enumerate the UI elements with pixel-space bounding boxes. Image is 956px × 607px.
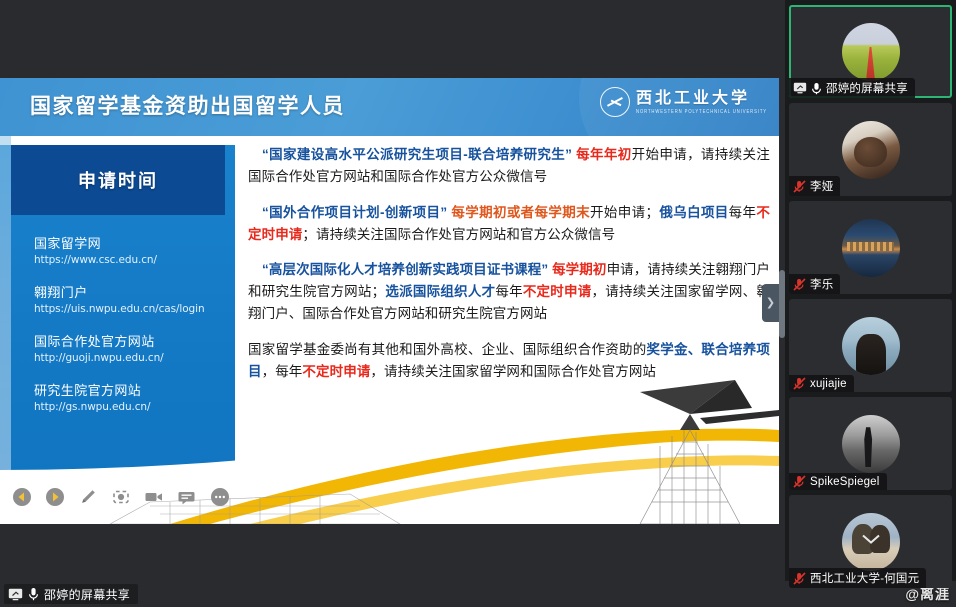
avatar — [842, 317, 900, 375]
slide-paragraph: “高层次国际化人才培养创新实践项目证书课程” 每学期初申请，请持续关注翱翔门户和… — [248, 259, 770, 325]
text-run: 开始申请； — [590, 205, 659, 220]
text-run: 不定时申请 — [302, 364, 370, 379]
list-item: 国际合作处官方网站 http://guoji.nwpu.edu.cn/ — [34, 334, 234, 366]
link-name: 国际合作处官方网站 — [34, 334, 234, 350]
microphone-muted-icon[interactable] — [793, 180, 806, 193]
text-run: 每年 — [729, 205, 757, 220]
link-url[interactable]: https://uis.nwpu.edu.cn/cas/login — [34, 303, 234, 317]
university-name-en: NORTHWESTERN POLYTECHNICAL UNIVERSITY — [636, 109, 767, 114]
chevron-down-icon — [858, 531, 884, 552]
participant-name-bar: SpikeSpiegel — [789, 473, 887, 490]
text-run: ” — [565, 147, 572, 162]
text-run: 不定时申请 — [523, 284, 592, 299]
list-item: 研究生院官方网站 http://gs.nwpu.edu.cn/ — [34, 383, 234, 415]
text-run: 国家留学基金委尚有其他和国外高校、企业、国际组织合作资助的 — [248, 342, 646, 357]
text-run: 俄乌白项目 — [659, 205, 729, 220]
presentation-slide: 国家留学基金资助出国留学人员 西北工业大学 NORTHWESTERN POLYT… — [0, 78, 779, 524]
chevron-right-icon: ❯ — [766, 298, 775, 309]
screen-share-icon — [8, 588, 23, 601]
screen-share-status: 邵婷的屏幕共享 — [4, 584, 138, 604]
text-run: 选派国际组织人才 — [385, 284, 495, 299]
list-item: 国家留学网 https://www.csc.edu.cn/ — [34, 236, 234, 268]
text-run: 每年 — [495, 284, 522, 299]
slide-body-text: “国家建设高水平公派研究生项目-联合培养研究生” 每年年初开始申请，请持续关注国… — [248, 144, 770, 397]
link-name: 国家留学网 — [34, 236, 234, 252]
participant-name: 邵婷的屏幕共享 — [826, 80, 908, 96]
university-seal-icon — [600, 87, 630, 117]
microphone-muted-icon[interactable] — [793, 572, 806, 585]
text-run: 每学期初或者每学期末 — [451, 205, 590, 220]
microphone-muted-icon[interactable] — [793, 475, 806, 488]
rail-white-gap — [0, 136, 235, 145]
participant-name: 李娅 — [810, 178, 833, 194]
next-slide-button[interactable] — [45, 487, 64, 506]
annotate-pen-button[interactable] — [78, 487, 97, 506]
participant-name: SpikeSpiegel — [810, 476, 880, 488]
link-name: 研究生院官方网站 — [34, 383, 234, 399]
participant-tile[interactable]: SpikeSpiegel — [789, 397, 952, 490]
avatar — [842, 219, 900, 277]
participant-name-bar: 西北工业大学-何国元 — [789, 568, 926, 588]
text-run: 高层次国际化人才培养创新实践项目证书课程 — [269, 262, 541, 277]
link-url[interactable]: http://guoji.nwpu.edu.cn/ — [34, 352, 234, 366]
slide-left-panel: 申请时间 国家留学网 https://www.csc.edu.cn/ 翱翔门户 … — [0, 136, 235, 524]
text-run: 国外合作项目计划-创新项目 — [269, 205, 441, 220]
text-run: “ — [262, 262, 269, 277]
record-video-button[interactable] — [144, 487, 163, 506]
university-logo: 西北工业大学 NORTHWESTERN POLYTECHNICAL UNIVER… — [600, 87, 767, 117]
list-item: 翱翔门户 https://uis.nwpu.edu.cn/cas/login — [34, 285, 234, 317]
university-name-cn: 西北工业大学 — [636, 90, 767, 106]
reference-link-list: 国家留学网 https://www.csc.edu.cn/ 翱翔门户 https… — [34, 236, 234, 432]
collapse-panel-button[interactable]: ❯ — [762, 284, 779, 322]
participant-name: 西北工业大学-何国元 — [810, 570, 919, 586]
text-run: “ — [262, 205, 269, 220]
more-options-button[interactable] — [210, 487, 229, 506]
slide-paragraph: “国家建设高水平公派研究生项目-联合培养研究生” 每年年初开始申请，请持续关注国… — [248, 144, 770, 188]
participant-tile[interactable]: 邵婷的屏幕共享 — [789, 5, 952, 98]
participant-tile[interactable]: 西北工业大学-何国元 — [789, 495, 952, 588]
slide-toolbar[interactable] — [12, 487, 229, 506]
page-title: 国家留学基金资助出国留学人员 — [30, 90, 345, 120]
microphone-muted-icon[interactable] — [793, 377, 806, 390]
spotlight-button[interactable] — [111, 487, 130, 506]
previous-slide-button[interactable] — [12, 487, 31, 506]
microphone-muted-icon[interactable] — [793, 278, 806, 291]
text-run: 国家建设高水平公派研究生项目-联合培养研究生 — [269, 147, 565, 162]
slide-header: 国家留学基金资助出国留学人员 西北工业大学 NORTHWESTERN POLYT… — [0, 78, 779, 136]
text-run: “ — [262, 147, 269, 162]
slide-paragraph: 国家留学基金委尚有其他和国外高校、企业、国际组织合作资助的奖学金、联合培养项目，… — [248, 339, 770, 383]
text-run: 每学期初 — [552, 262, 607, 277]
text-run: ，请持续关注国家留学网和国际合作处官方网站 — [370, 364, 656, 379]
link-url[interactable]: http://gs.nwpu.edu.cn/ — [34, 401, 234, 415]
link-url[interactable]: https://www.csc.edu.cn/ — [34, 254, 234, 268]
text-run: ；请持续关注国际合作处官方网站和官方公众微信号 — [302, 227, 615, 242]
text-run: 每年年初 — [576, 147, 631, 162]
section-heading-label: 申请时间 — [78, 167, 158, 193]
participant-tile[interactable]: xujiajie — [789, 299, 952, 392]
participant-name-bar: xujiajie — [789, 375, 854, 392]
section-heading-box: 申请时间 — [11, 145, 225, 215]
zoom-meeting-window: 国家留学基金资助出国留学人员 西北工业大学 NORTHWESTERN POLYT… — [0, 0, 956, 607]
participant-name-bar: 李乐 — [789, 274, 840, 294]
microphone-icon[interactable] — [811, 82, 822, 95]
comment-button[interactable] — [177, 487, 196, 506]
avatar — [842, 415, 900, 473]
participant-tile[interactable]: 李乐 — [789, 201, 952, 294]
microphone-icon — [28, 587, 39, 601]
shared-screen-stage[interactable]: 国家留学基金资助出国留学人员 西北工业大学 NORTHWESTERN POLYT… — [0, 0, 785, 581]
slide-paragraph: “国外合作项目计划-创新项目” 每学期初或者每学期末开始申请；俄乌白项目每年不定… — [248, 202, 770, 246]
stage-scrollbar[interactable] — [779, 270, 785, 338]
avatar — [842, 121, 900, 179]
participant-name: xujiajie — [810, 378, 847, 390]
participant-strip[interactable]: 邵婷的屏幕共享李娅李乐xujiajieSpikeSpiegel西北工业大学-何国… — [785, 0, 956, 581]
screen-share-label: 邵婷的屏幕共享 — [44, 586, 130, 603]
link-name: 翱翔门户 — [34, 285, 234, 301]
participant-name-bar: 邵婷的屏幕共享 — [789, 78, 915, 98]
screen-share-icon — [793, 82, 807, 94]
avatar — [842, 23, 900, 81]
rail-edge-highlight — [0, 136, 11, 524]
participant-name: 李乐 — [810, 276, 833, 292]
participant-name-bar: 李娅 — [789, 176, 840, 196]
text-run: ，每年 — [262, 364, 303, 379]
participant-tile[interactable]: 李娅 — [789, 103, 952, 196]
